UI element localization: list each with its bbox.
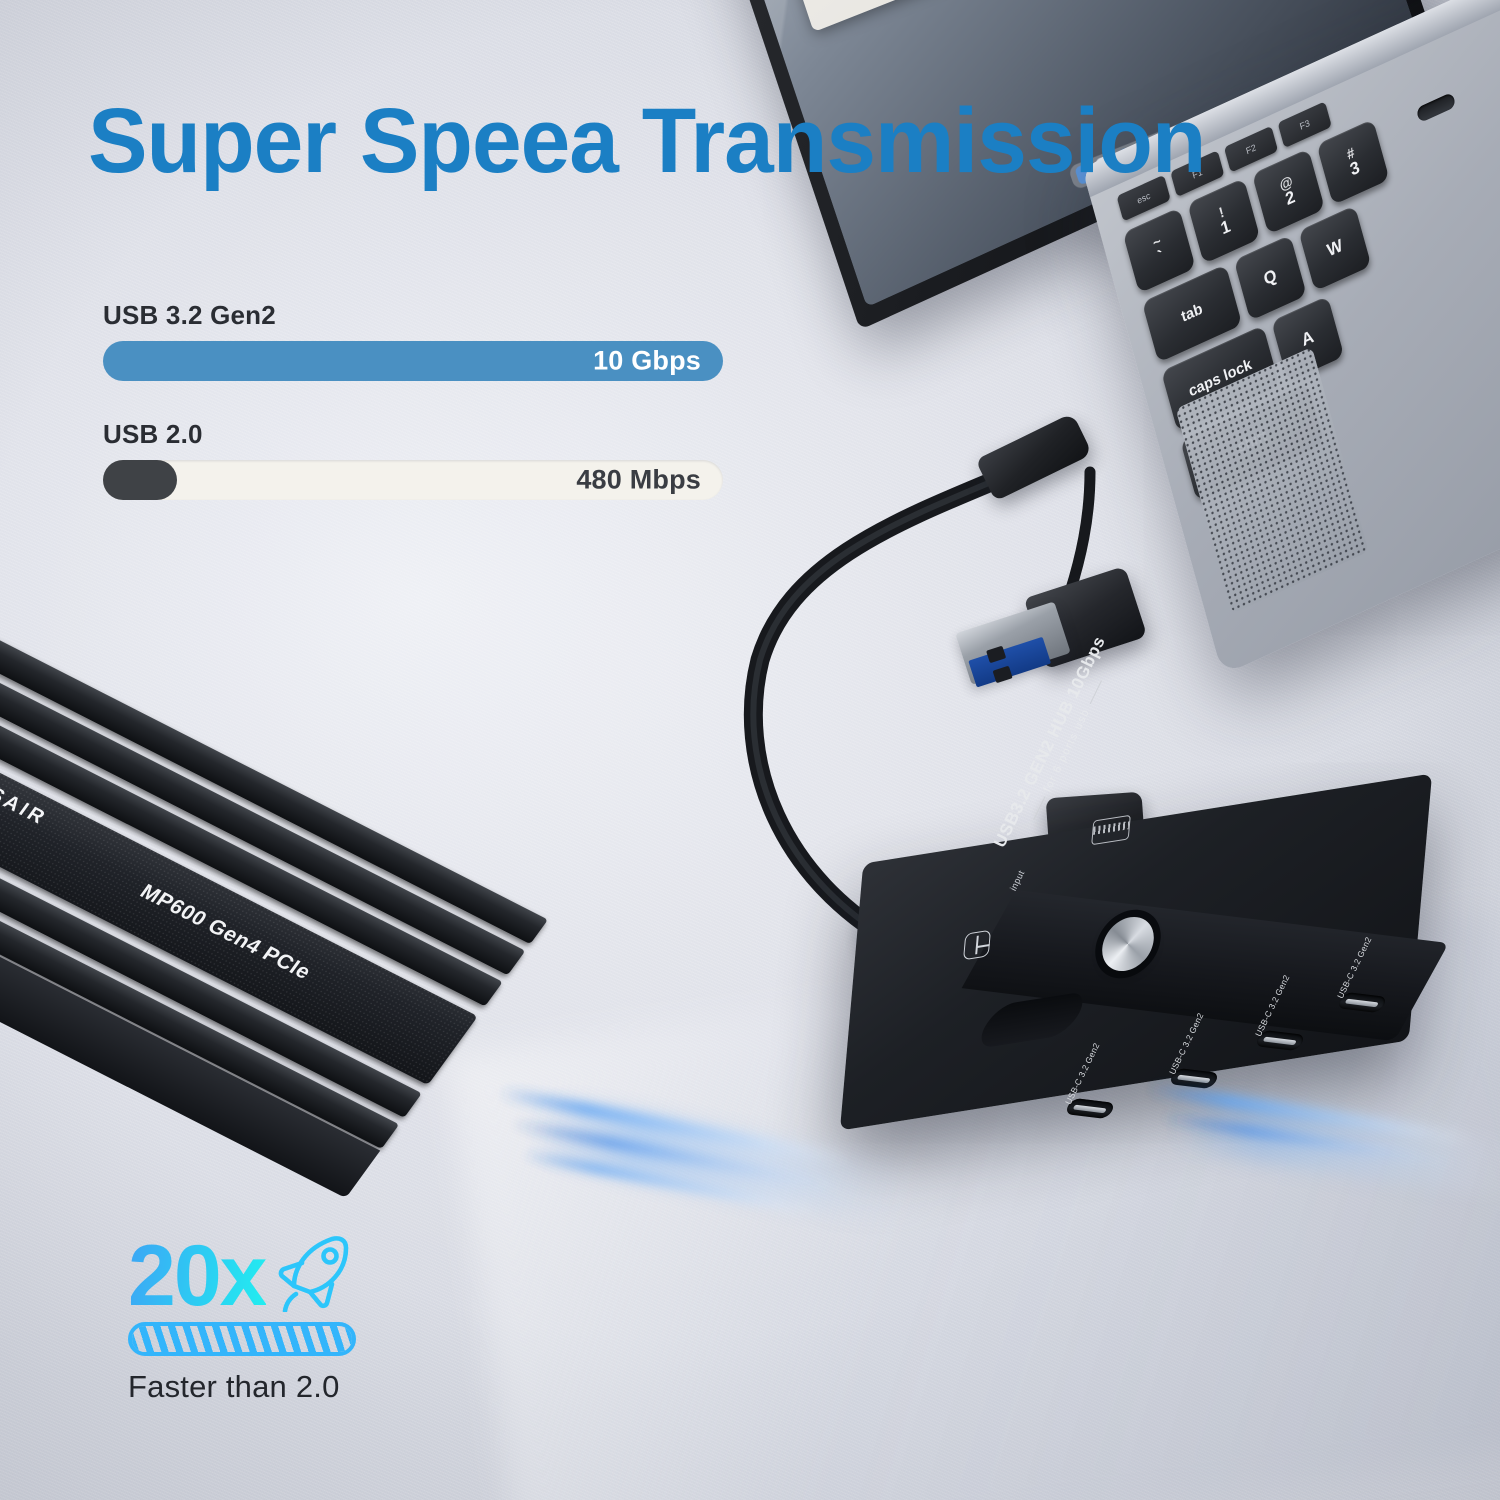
badge-top-row: 20x — [128, 1228, 488, 1316]
speed-row-usb32: USB 3.2 Gen2 10 Gbps — [103, 300, 723, 381]
corsair-ssd-heatsink: CORSAIR MP600 Gen4 PCIe — [0, 620, 680, 1240]
usb-a-connector-shell — [955, 601, 1071, 684]
speed-value-usb20: 480 Mbps — [576, 465, 701, 496]
speed-comparison-chart: USB 3.2 Gen2 10 Gbps USB 2.0 480 Mbps — [103, 300, 723, 538]
page-title: Super Speea Transmission — [88, 95, 1446, 187]
ssd-body: CORSAIR MP600 Gen4 PCIe — [0, 620, 548, 1165]
usb-hub-device: USB3.2 GEN2 HUB 10Gbps for 6 ports usb i… — [840, 770, 1460, 1220]
rocket-icon — [272, 1228, 364, 1312]
striped-progress-icon — [128, 1322, 356, 1356]
usb-3-blue-tongue — [968, 637, 1051, 688]
speed-row-usb20: USB 2.0 480 Mbps — [103, 419, 723, 500]
speed-bar-fill-usb20 — [103, 460, 177, 500]
key-top-legend: ~ — [1151, 233, 1162, 251]
key-w[interactable]: W — [1298, 205, 1371, 291]
speed-label-usb32: USB 3.2 Gen2 — [103, 300, 723, 331]
speed-label-usb20: USB 2.0 — [103, 419, 723, 450]
key-tilde[interactable]: ~ ` — [1123, 207, 1196, 293]
speed-bar-usb32: 10 Gbps — [103, 341, 723, 381]
speed-bar-usb20: 480 Mbps — [103, 460, 723, 500]
badge-multiplier-text: 20x — [128, 1237, 266, 1316]
badge-caption: Faster than 2.0 — [128, 1369, 488, 1405]
product-marketing-image: Usuarios y grupos Controles parentales A… — [0, 0, 1500, 1500]
speed-multiplier-badge: 20x Faster than 2.0 — [128, 1228, 488, 1405]
key-bottom-legend: ` — [1156, 248, 1166, 268]
speed-value-usb32: 10 Gbps — [593, 346, 701, 377]
key-q[interactable]: Q — [1234, 235, 1307, 321]
progress-stripes — [132, 1326, 352, 1352]
key-top-legend: ! — [1217, 204, 1225, 220]
